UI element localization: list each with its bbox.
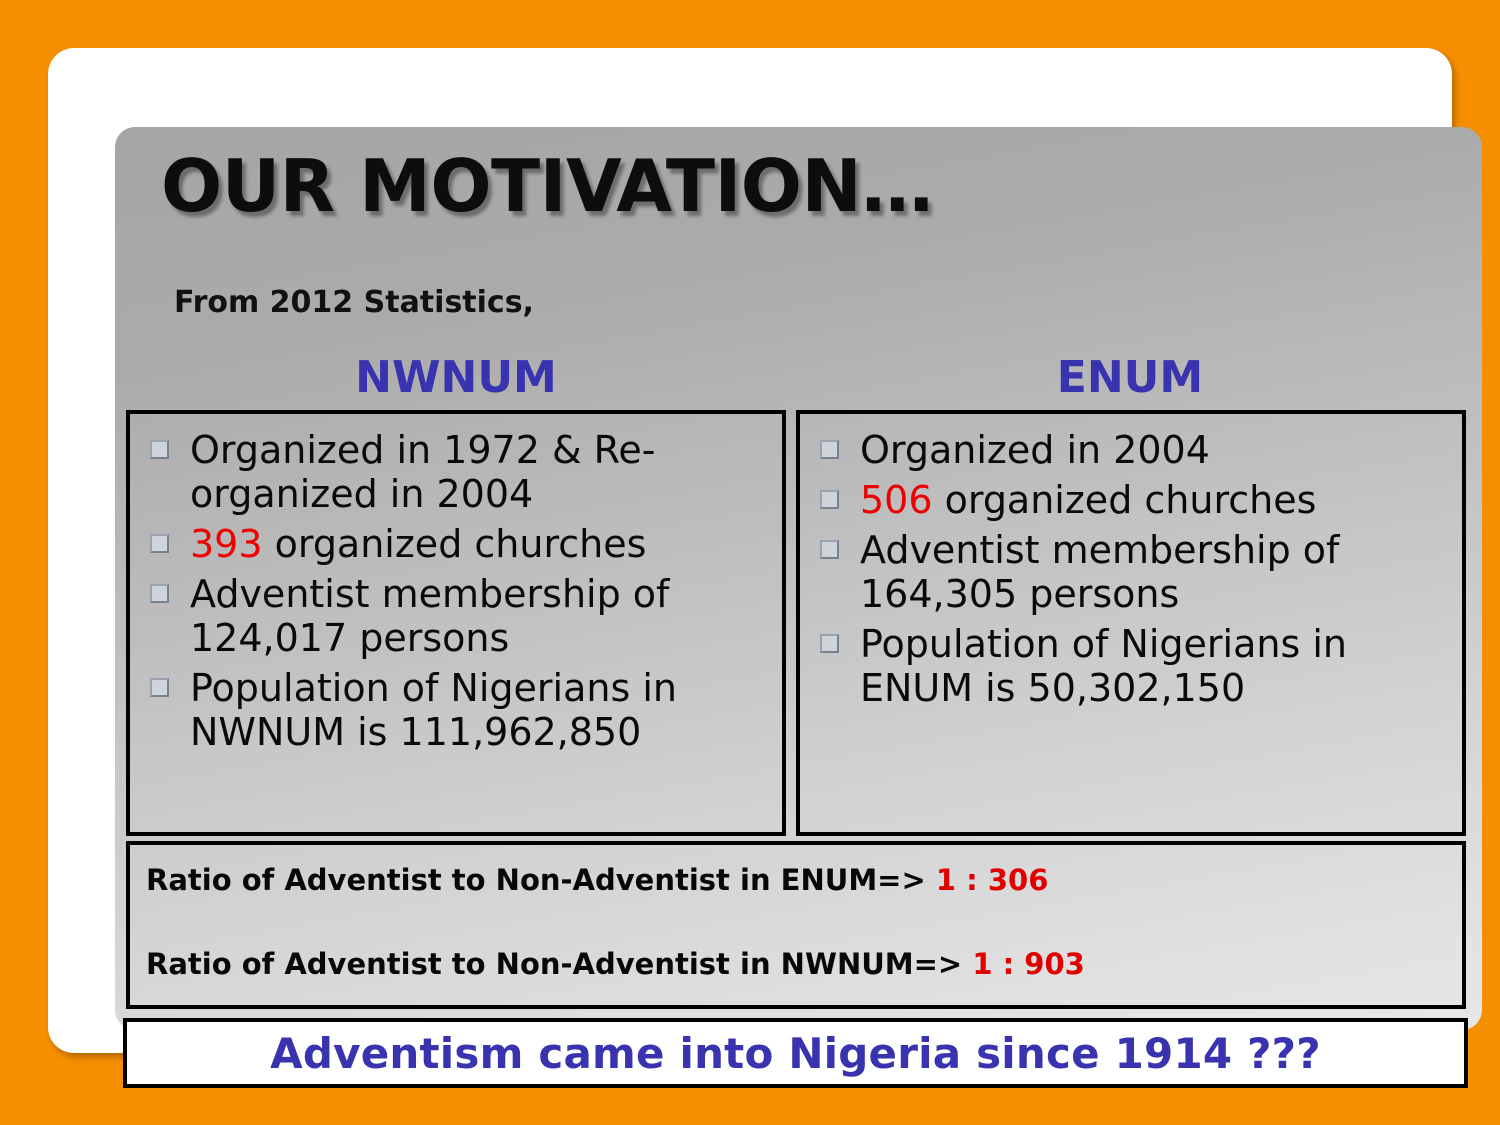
ratio-label: Ratio of Adventist to Non-Adventist in N… (146, 947, 972, 981)
bullet-square-icon (820, 440, 839, 459)
ratio-label: Ratio of Adventist to Non-Adventist in E… (146, 863, 936, 897)
ratio-line-enum: Ratio of Adventist to Non-Adventist in E… (146, 863, 1462, 897)
page-title: OUR MOTIVATION… (161, 144, 933, 228)
bullet-highlight: 506 (860, 478, 933, 522)
list-item: Organized in 1972 & Re-organized in 2004 (142, 428, 774, 516)
bullet-square-icon (820, 540, 839, 559)
bullet-square-icon (820, 490, 839, 509)
bullet-highlight: 393 (190, 522, 263, 566)
slide-content-panel: OUR MOTIVATION… From 2012 Statistics, NW… (115, 127, 1482, 1030)
list-item: Organized in 2004 (812, 428, 1454, 472)
list-item: Adventist membership of 124,017 persons (142, 572, 774, 660)
bullet-text: organized churches (933, 478, 1317, 522)
bullet-text: Adventist membership of 124,017 persons (190, 572, 669, 660)
bullet-list-nwnum: Organized in 1972 & Re-organized in 2004… (142, 428, 774, 755)
ratio-value: 1 : 306 (936, 863, 1049, 897)
bullet-square-icon (150, 584, 169, 603)
column-heading-nwnum: NWNUM (126, 352, 786, 403)
bullet-text: organized churches (263, 522, 647, 566)
bullet-text: Organized in 1972 & Re-organized in 2004 (190, 428, 655, 516)
slide-frame: OUR MOTIVATION… From 2012 Statistics, NW… (48, 48, 1452, 1053)
ratio-summary-box: Ratio of Adventist to Non-Adventist in E… (126, 841, 1466, 1009)
bullet-square-icon (150, 678, 169, 697)
bullet-list-enum: Organized in 2004 506 organized churches… (812, 428, 1454, 710)
list-item: 506 organized churches (812, 478, 1454, 522)
bullet-text: Population of Nigerians in NWNUM is 111,… (190, 666, 677, 754)
list-item: 393 organized churches (142, 522, 774, 566)
ratio-line-nwnum: Ratio of Adventist to Non-Adventist in N… (146, 947, 1462, 981)
list-item: Population of Nigerians in NWNUM is 111,… (142, 666, 774, 754)
list-item: Population of Nigerians in ENUM is 50,30… (812, 622, 1454, 710)
bullet-square-icon (150, 440, 169, 459)
ratio-value: 1 : 903 (972, 947, 1085, 981)
bullet-text: Organized in 2004 (860, 428, 1210, 472)
bullet-text: Adventist membership of 164,305 persons (860, 528, 1339, 616)
bullet-square-icon (820, 634, 839, 653)
stat-box-nwnum: Organized in 1972 & Re-organized in 2004… (126, 410, 786, 836)
bullet-text: Population of Nigerians in ENUM is 50,30… (860, 622, 1347, 710)
bullet-square-icon (150, 534, 169, 553)
banner-text: Adventism came into Nigeria since 1914 ?… (270, 1029, 1321, 1078)
subtitle-source-note: From 2012 Statistics, (174, 285, 534, 320)
list-item: Adventist membership of 164,305 persons (812, 528, 1454, 616)
stat-box-enum: Organized in 2004 506 organized churches… (796, 410, 1466, 836)
bottom-question-banner: Adventism came into Nigeria since 1914 ?… (123, 1018, 1468, 1088)
column-heading-enum: ENUM (796, 352, 1464, 403)
